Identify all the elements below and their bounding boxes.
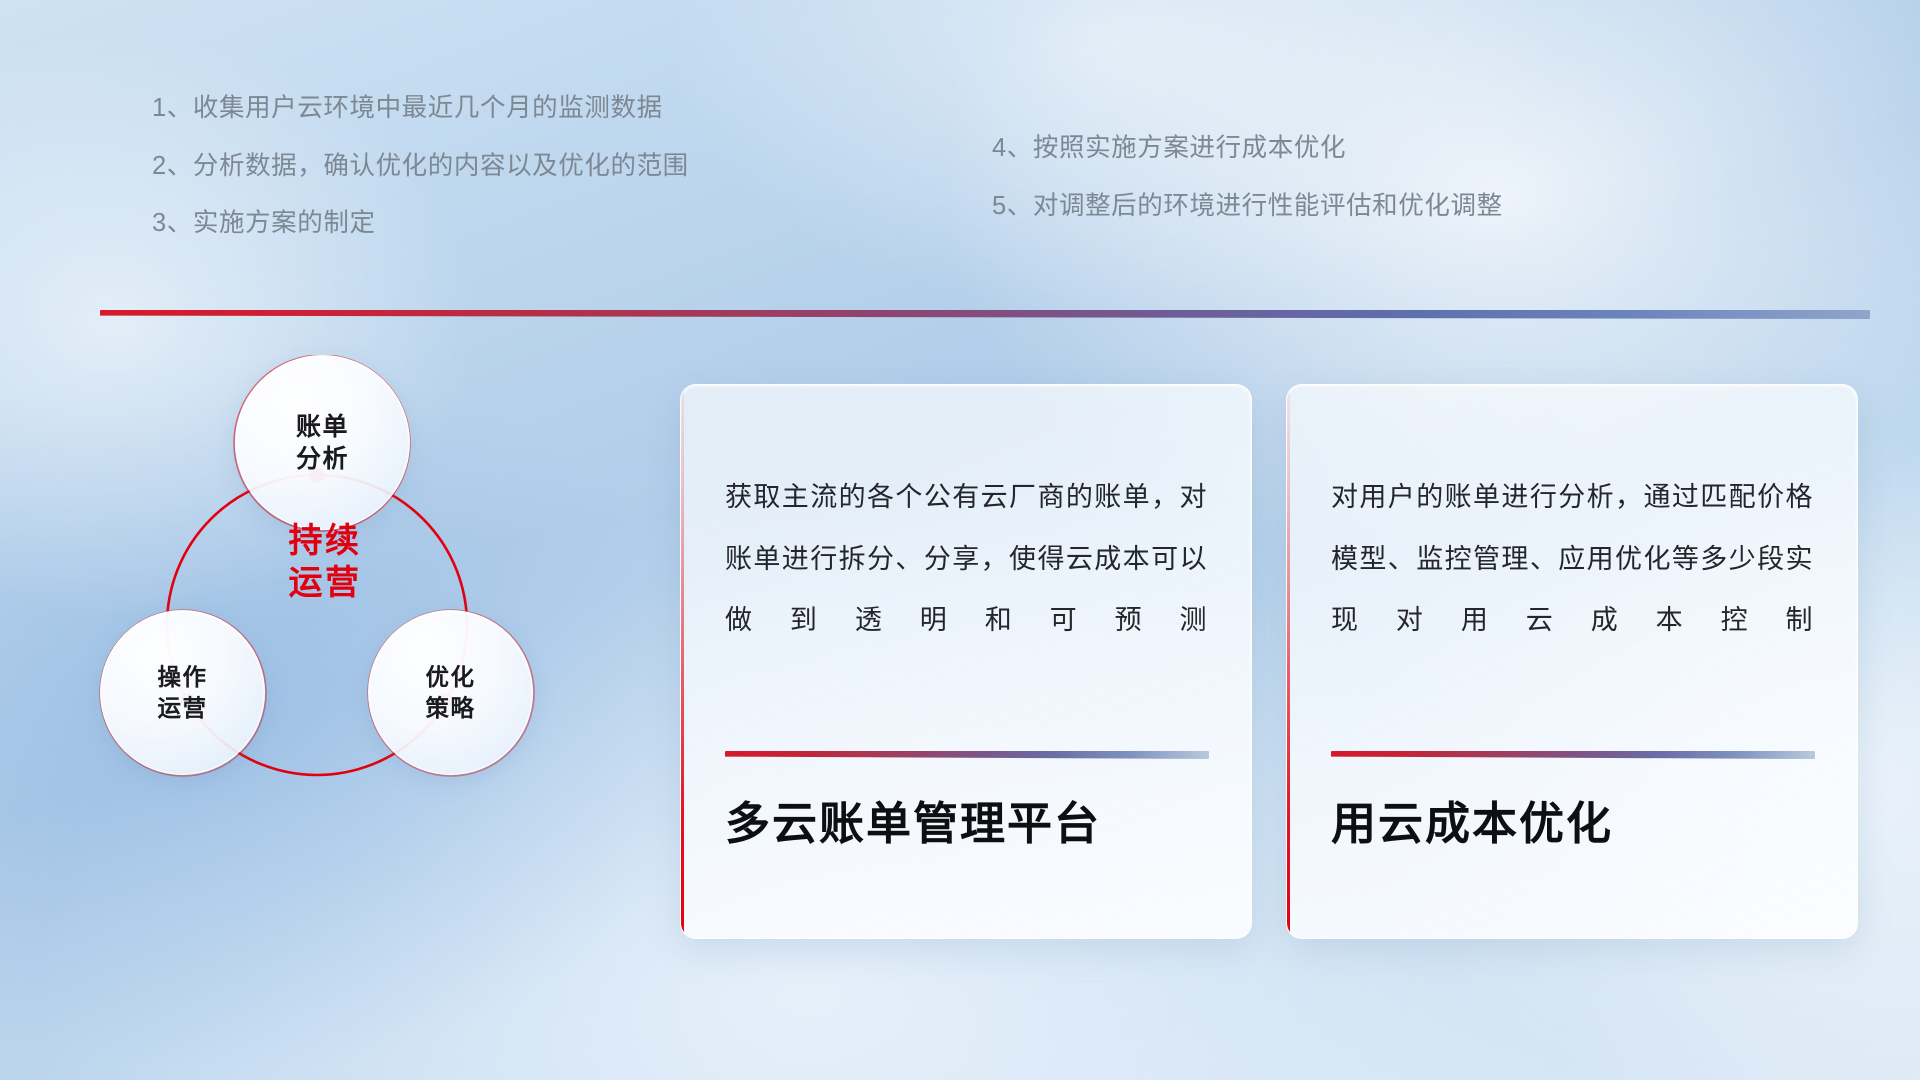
bubble-label-line2: 运营 [158,693,208,723]
card-body-text: 获取主流的各个公有云厂商的账单，对账单进行拆分、分享，使得云成本可以做到透明和可… [725,467,1207,652]
card-divider [1331,751,1815,759]
diagram-center-label: 持续 运营 [230,520,420,604]
card-divider-bar [725,751,1209,759]
diagram-bubble-bill-analysis[interactable]: 账单 分析 [235,355,410,530]
process-step-4: 4、按照实施方案进行成本优化 [992,136,1752,162]
process-steps: 1、收集用户云环境中最近几个月的监测数据 2、分析数据，确认优化的内容以及优化的… [152,96,1792,269]
center-label-line1: 持续 [230,520,420,562]
card-body-text: 对用户的账单进行分析，通过匹配价格模型、监控管理、应用优化等多少段实现对用云成本… [1331,467,1813,652]
section-divider [100,310,1870,319]
card-title: 多云账单管理平台 [725,797,1209,851]
diagram-bubble-optimization-strategy[interactable]: 优化 策略 [368,610,533,775]
bubble-label-line2: 分析 [296,443,349,475]
bubble-label-line1: 操作 [158,662,208,692]
bubble-label-line1: 账单 [296,411,349,443]
card-title: 用云成本优化 [1331,797,1815,851]
card-divider-bar [1331,751,1815,759]
bubble-label-line2: 策略 [426,693,476,723]
process-step-1: 1、收集用户云环境中最近几个月的监测数据 [152,96,992,122]
process-step-2: 2、分析数据，确认优化的内容以及优化的范围 [152,154,992,180]
diagram-bubble-operation[interactable]: 操作 运营 [100,610,265,775]
process-step-5: 5、对调整后的环境进行性能评估和优化调整 [992,194,1752,220]
slide-canvas: 1、收集用户云环境中最近几个月的监测数据 2、分析数据，确认优化的内容以及优化的… [0,0,1920,1080]
center-label-line2: 运营 [230,562,420,604]
card-divider [725,751,1209,759]
feature-card-multicloud-billing[interactable]: 获取主流的各个公有云厂商的账单，对账单进行拆分、分享，使得云成本可以做到透明和可… [680,384,1252,939]
process-steps-column-left: 1、收集用户云环境中最近几个月的监测数据 2、分析数据，确认优化的内容以及优化的… [152,96,992,269]
process-steps-column-right: 4、按照实施方案进行成本优化 5、对调整后的环境进行性能评估和优化调整 [992,96,1752,269]
bubble-label-line1: 优化 [426,662,476,692]
feature-card-cloud-cost-optimization[interactable]: 对用户的账单进行分析，通过匹配价格模型、监控管理、应用优化等多少段实现对用云成本… [1286,384,1858,939]
continuous-operation-diagram: 账单 分析 操作 运营 优化 策略 持续 运营 [95,355,615,855]
section-divider-bar [100,310,1870,319]
process-step-3: 3、实施方案的制定 [152,211,992,237]
